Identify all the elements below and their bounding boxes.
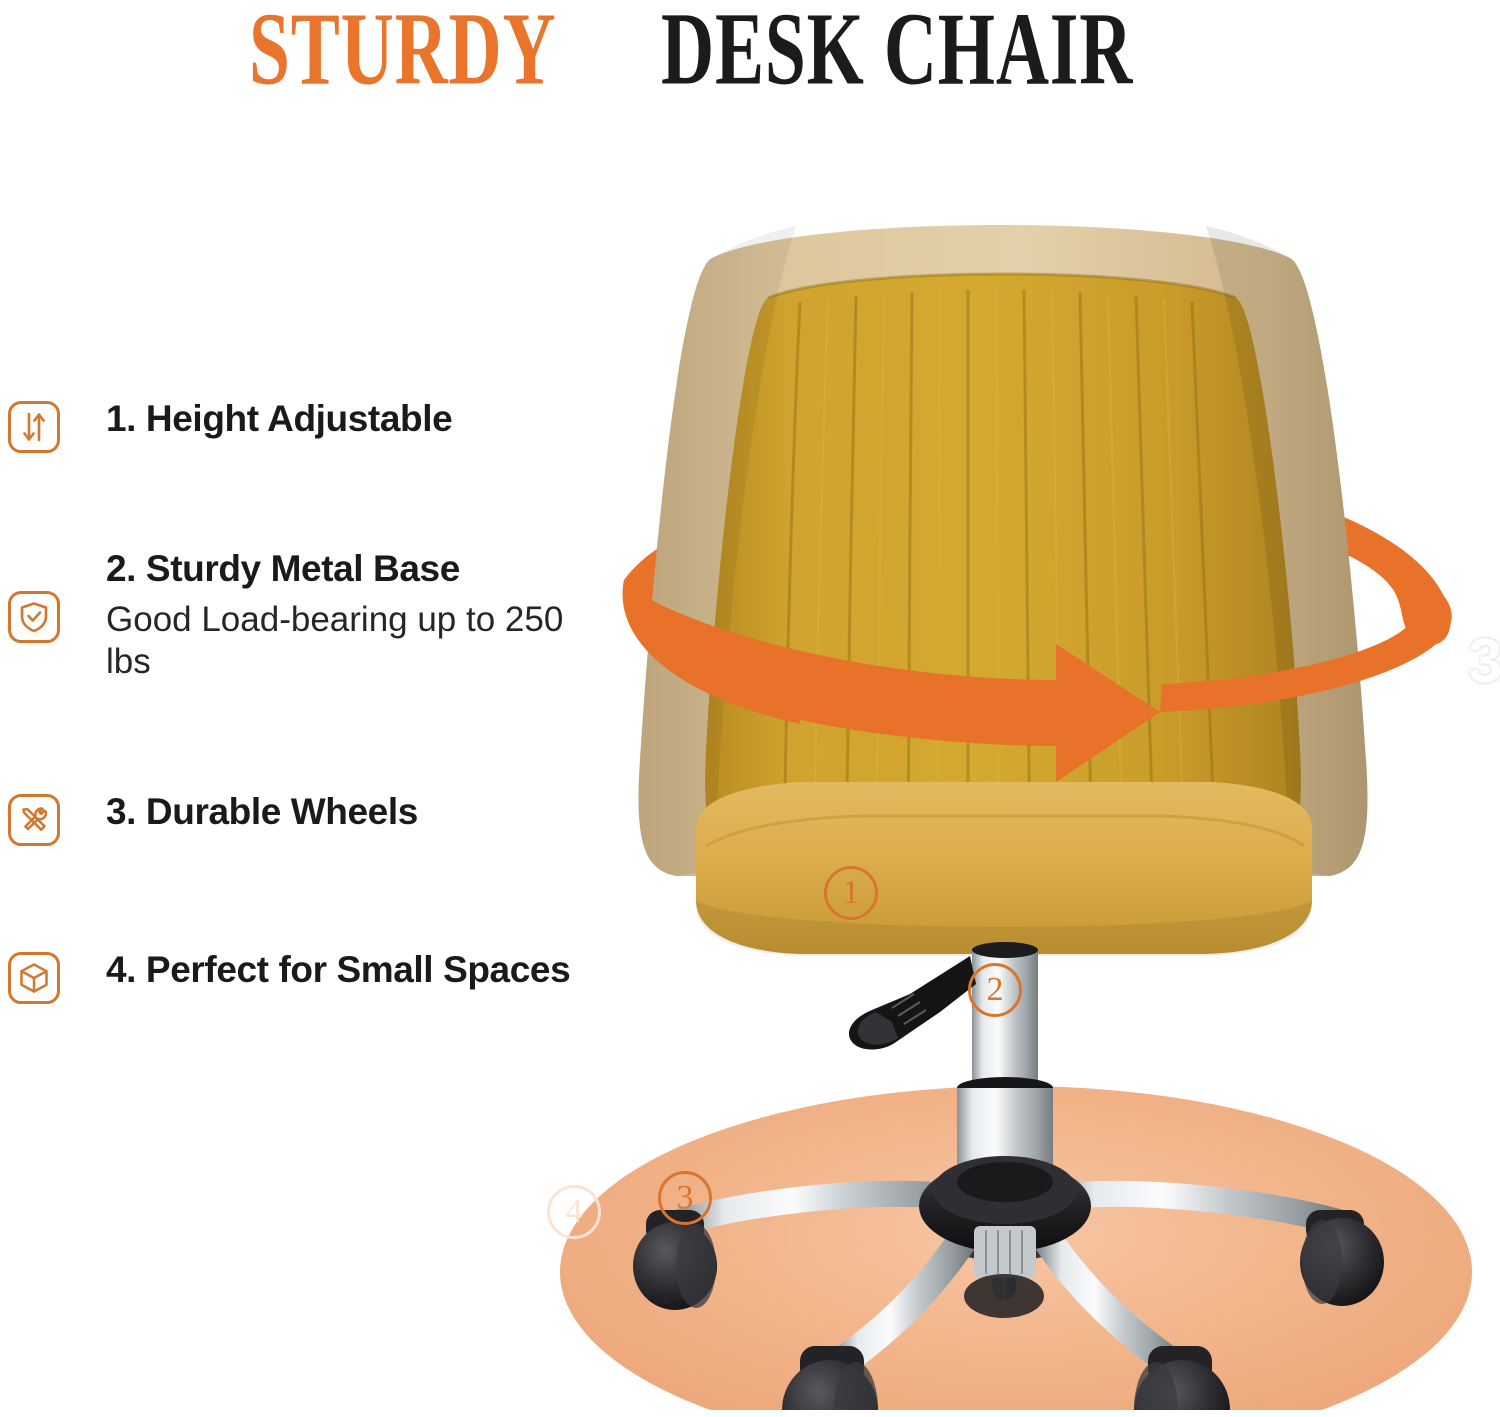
box-cube-icon bbox=[8, 952, 60, 1004]
feature-item-small-spaces: 4. Perfect for Small Spaces bbox=[8, 948, 570, 1004]
callout-marker-3: 3 bbox=[658, 1171, 712, 1225]
feature-text-block: 3. Durable Wheels bbox=[106, 790, 418, 834]
feature-text-block: 1. Height Adjustable bbox=[106, 397, 452, 441]
feature-item-durable-wheels: 3. Durable Wheels bbox=[8, 790, 418, 846]
page-title: STURDY DESK CHAIR bbox=[0, 0, 1500, 95]
tools-wrench-screwdriver-icon bbox=[8, 794, 60, 846]
title-highlight-word: STURDY bbox=[249, 0, 556, 99]
feature-title: 1. Height Adjustable bbox=[106, 397, 452, 441]
title-rest-words: DESK CHAIR bbox=[661, 0, 1133, 99]
height-adjust-arrows-icon bbox=[8, 401, 60, 453]
callout-marker-1: 1 bbox=[824, 866, 878, 920]
shield-check-icon bbox=[8, 591, 60, 643]
callout-marker-2: 2 bbox=[968, 963, 1022, 1017]
callout-marker-4: 4 bbox=[547, 1185, 601, 1239]
chair-illustration bbox=[500, 110, 1500, 1410]
seat-cushion bbox=[696, 782, 1312, 956]
caster-wheel bbox=[964, 1274, 1044, 1318]
chair-shell bbox=[639, 225, 1368, 876]
product-image-desk-chair: 360° bbox=[500, 110, 1500, 1410]
height-adjustment-lever bbox=[849, 956, 976, 1050]
feature-item-height-adjustable: 1. Height Adjustable bbox=[8, 397, 452, 453]
feature-item-sturdy-metal-base: 2. Sturdy Metal Base Good Load-bearing u… bbox=[8, 547, 576, 684]
feature-title: 3. Durable Wheels bbox=[106, 790, 418, 834]
